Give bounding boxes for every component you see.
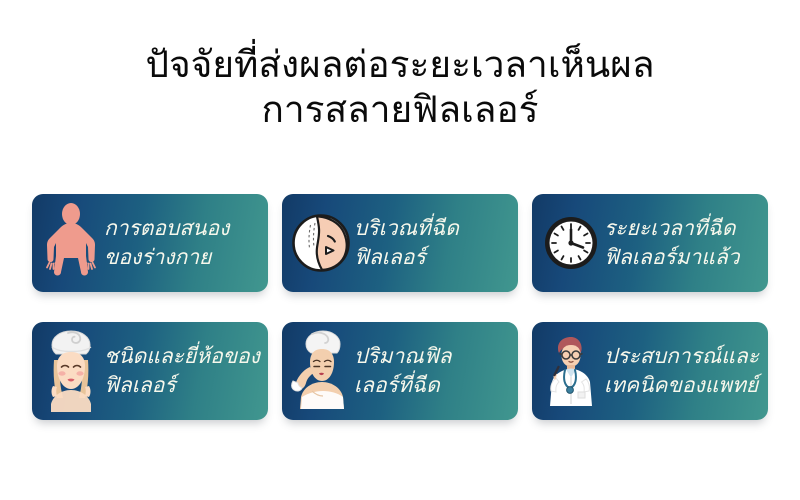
card-label: การตอบสนอง ของร่างกาย	[104, 214, 268, 272]
woman-towel-icon	[38, 327, 104, 415]
factor-card-grid: การตอบสนอง ของร่างกาย บริเวณที่ฉีด ฟิลเล…	[32, 194, 768, 420]
card-label-line-2: เทคนิคของแพทย์	[604, 371, 764, 400]
card-label-line-2: เลอร์ที่ฉีด	[354, 371, 514, 400]
clock-icon	[538, 199, 604, 287]
face-profile-icon	[288, 199, 354, 287]
human-body-icon	[38, 199, 104, 287]
card-body-response[interactable]: การตอบสนอง ของร่างกาย	[32, 194, 268, 292]
card-label-line-2: ฟิลเลอร์	[104, 371, 268, 400]
card-label-line-2: ของร่างกาย	[104, 243, 264, 272]
card-label-line-1: การตอบสนอง	[104, 214, 264, 243]
page-title-line-2: การสลายฟิลเลอร์	[0, 87, 800, 132]
page-title: ปัจจัยที่ส่งผลต่อระยะเวลาเห็นผล การสลายฟ…	[0, 0, 800, 132]
card-filler-type-brand[interactable]: ชนิดและยี่ห้อของ ฟิลเลอร์	[32, 322, 268, 420]
card-label: ปริมาณฟิล เลอร์ที่ฉีด	[354, 342, 518, 400]
page-title-line-1: ปัจจัยที่ส่งผลต่อระยะเวลาเห็นผล	[0, 42, 800, 87]
card-label-line-1: ประสบการณ์และ	[604, 342, 764, 371]
card-label-line-1: ชนิดและยี่ห้อของ	[104, 342, 268, 371]
card-filler-amount[interactable]: ปริมาณฟิล เลอร์ที่ฉีด	[282, 322, 518, 420]
doctor-icon	[538, 327, 604, 415]
card-label-line-1: บริเวณที่ฉีด	[354, 214, 514, 243]
card-label-line-1: ระยะเวลาที่ฉีด	[604, 214, 764, 243]
card-injection-area[interactable]: บริเวณที่ฉีด ฟิลเลอร์	[282, 194, 518, 292]
card-label: ชนิดและยี่ห้อของ ฟิลเลอร์	[104, 342, 268, 400]
woman-spa-icon	[288, 327, 354, 415]
card-label-line-2: ฟิลเลอร์มาแล้ว	[604, 243, 764, 272]
card-label-line-2: ฟิลเลอร์	[354, 243, 514, 272]
card-label: ระยะเวลาที่ฉีด ฟิลเลอร์มาแล้ว	[604, 214, 768, 272]
card-label-line-1: ปริมาณฟิล	[354, 342, 514, 371]
card-doctor-experience[interactable]: ประสบการณ์และ เทคนิคของแพทย์	[532, 322, 768, 420]
card-label: ประสบการณ์และ เทคนิคของแพทย์	[604, 342, 768, 400]
card-label: บริเวณที่ฉีด ฟิลเลอร์	[354, 214, 518, 272]
card-time-since-injection[interactable]: ระยะเวลาที่ฉีด ฟิลเลอร์มาแล้ว	[532, 194, 768, 292]
